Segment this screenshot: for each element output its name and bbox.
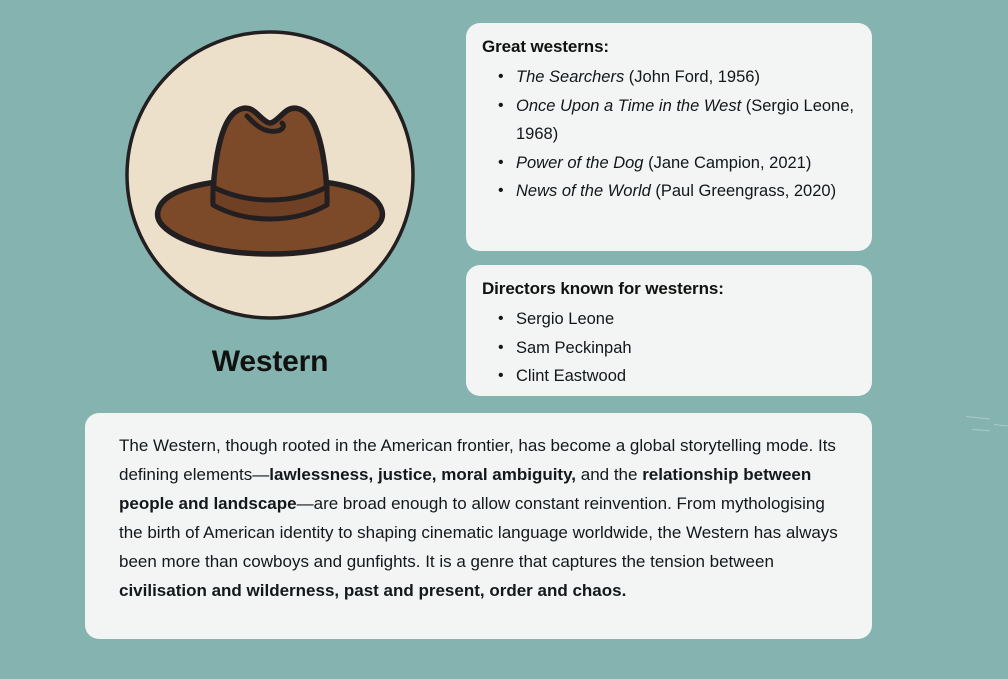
summary-emphasis: civilisation and wilderness, past and pr… — [119, 581, 626, 600]
background-artifact — [972, 429, 990, 431]
list-item-credit: (Paul Greengrass, 2020) — [651, 182, 836, 200]
list-item-credit: Clint Eastwood — [516, 367, 626, 385]
list-item-title: Power of the Dog — [516, 154, 644, 172]
summary-run: and the — [576, 465, 642, 484]
great-westerns-list: The Searchers (John Ford, 1956)Once Upon… — [482, 63, 854, 206]
genre-title: Western — [0, 345, 540, 379]
directors-card: Directors known for westerns: Sergio Leo… — [466, 265, 872, 396]
summary-emphasis: lawlessness, justice, moral ambiguity, — [269, 465, 576, 484]
card-heading: Great westerns: — [482, 37, 854, 57]
great-westerns-card: Great westerns: The Searchers (John Ford… — [466, 23, 872, 251]
list-item-title: The Searchers — [516, 68, 624, 86]
list-item-credit: (Jane Campion, 2021) — [644, 154, 812, 172]
list-item-credit: Sam Peckinpah — [516, 339, 632, 357]
list-item-credit: (John Ford, 1956) — [624, 68, 760, 86]
list-item-credit: Sergio Leone — [516, 310, 614, 328]
list-item: Power of the Dog (Jane Campion, 2021) — [516, 149, 854, 178]
cowboy-hat-icon — [125, 30, 415, 320]
list-item: Once Upon a Time in the West (Sergio Leo… — [516, 92, 854, 149]
slide-canvas: Western Great westerns: The Searchers (J… — [0, 0, 1008, 679]
background-artifact — [994, 424, 1008, 426]
summary-paragraph: The Western, though rooted in the Americ… — [119, 431, 846, 605]
list-item: News of the World (Paul Greengrass, 2020… — [516, 177, 854, 206]
directors-list: Sergio LeoneSam PeckinpahClint Eastwood — [482, 305, 854, 391]
list-item: Clint Eastwood — [516, 362, 854, 391]
list-item: Sergio Leone — [516, 305, 854, 334]
list-item: Sam Peckinpah — [516, 334, 854, 363]
list-item-title: Once Upon a Time in the West — [516, 97, 741, 115]
background-artifact — [966, 416, 990, 420]
card-heading: Directors known for westerns: — [482, 279, 854, 299]
list-item: The Searchers (John Ford, 1956) — [516, 63, 854, 92]
summary-card: The Western, though rooted in the Americ… — [85, 413, 872, 639]
illustration-block: Western — [0, 0, 455, 400]
list-item-title: News of the World — [516, 182, 651, 200]
